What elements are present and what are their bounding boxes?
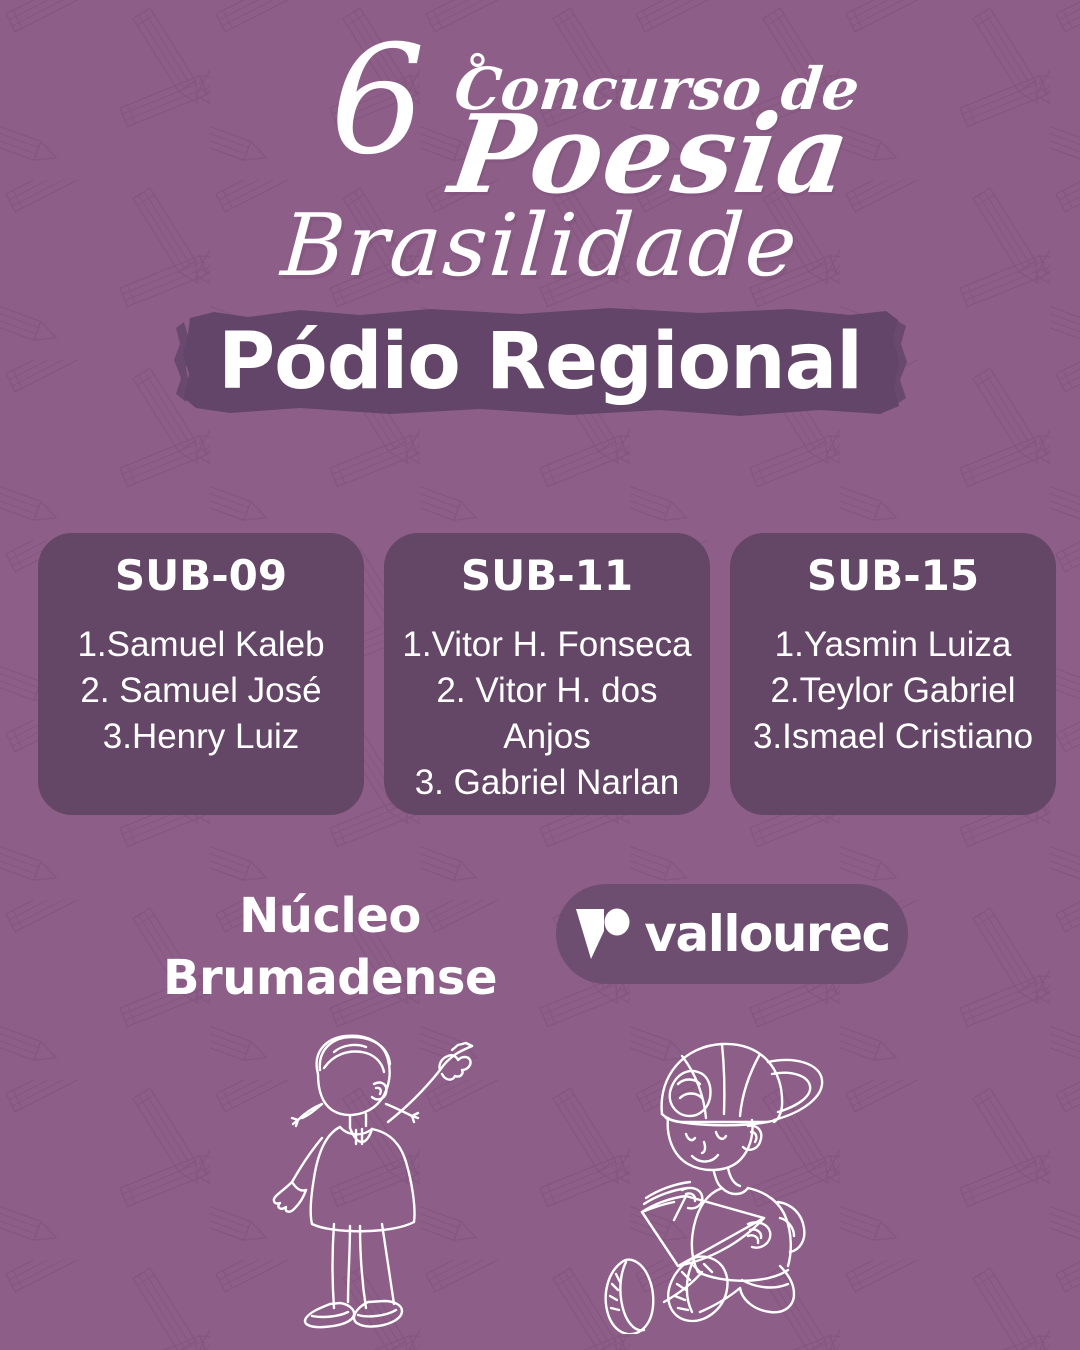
category-card-sub15: SUB-15 1.Yasmin Luiza 2.Teylor Gabriel 3… xyxy=(730,533,1056,815)
winner-list: 1.Yasmin Luiza 2.Teylor Gabriel 3.Ismael… xyxy=(738,622,1048,760)
page-title: Pódio Regional xyxy=(0,316,1080,408)
category-title: SUB-11 xyxy=(392,551,702,600)
podium-cards: SUB-09 1.Samuel Kaleb 2. Samuel José 3.H… xyxy=(38,533,1056,815)
category-title: SUB-09 xyxy=(46,551,356,600)
edition-number: 6 xyxy=(330,26,419,176)
sponsor-name: vallourec xyxy=(644,909,889,959)
category-card-sub11: SUB-11 1.Vitor H. Fonseca 2. Vitor H. do… xyxy=(384,533,710,815)
contest-theme: Brasilidade xyxy=(0,196,1080,296)
list-item: 1.Vitor H. Fonseca xyxy=(398,622,696,668)
girl-pointing-up-icon xyxy=(262,1012,482,1337)
list-item: 1.Yasmin Luiza xyxy=(744,622,1042,668)
list-item: 2. Vitor H. dos Anjos xyxy=(398,668,696,760)
poster-header: 6 ° Concurso de Poesia Brasilidade xyxy=(0,0,1080,150)
vallourec-v-logo-icon xyxy=(574,905,630,963)
list-item: 3.Ismael Cristiano xyxy=(744,714,1042,760)
winner-list: 1.Vitor H. Fonseca 2. Vitor H. dos Anjos… xyxy=(392,622,702,806)
title-line-primary: 6 ° Concurso de Poesia xyxy=(0,0,1080,150)
nucleus-line-1: Núcleo xyxy=(130,885,530,947)
list-item: 2. Samuel José xyxy=(52,668,350,714)
list-item: 3.Henry Luiz xyxy=(52,714,350,760)
category-card-sub09: SUB-09 1.Samuel Kaleb 2. Samuel José 3.H… xyxy=(38,533,364,815)
category-title: SUB-15 xyxy=(738,551,1048,600)
list-item: 3. Gabriel Narlan xyxy=(398,760,696,806)
nucleus-line-2: Brumadense xyxy=(130,947,530,1009)
podium-banner: Pódio Regional xyxy=(0,298,1080,426)
list-item: 1.Samuel Kaleb xyxy=(52,622,350,668)
nucleus-label: Núcleo Brumadense xyxy=(130,885,530,1009)
winner-list: 1.Samuel Kaleb 2. Samuel José 3.Henry Lu… xyxy=(46,622,356,760)
list-item: 2.Teylor Gabriel xyxy=(744,668,1042,714)
boy-reading-book-icon xyxy=(582,1022,844,1334)
sponsor-logo: vallourec xyxy=(556,884,908,984)
poster-canvas: 6 ° Concurso de Poesia Brasilidade Pódio… xyxy=(0,0,1080,1350)
